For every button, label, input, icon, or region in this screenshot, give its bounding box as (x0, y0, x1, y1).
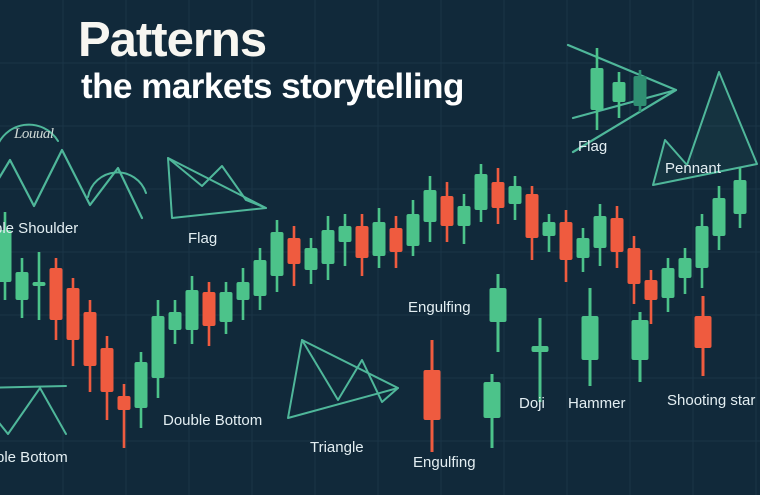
candle-body (582, 316, 599, 360)
candle-body (591, 68, 604, 110)
candle-body (373, 222, 386, 256)
candle-body (458, 206, 471, 226)
candlestick-chart-canvas (0, 0, 760, 495)
candle-body (613, 82, 626, 102)
signature-script: Louual (14, 126, 54, 143)
candle-body (441, 196, 454, 226)
candle-body (594, 216, 607, 248)
candle-body (475, 174, 488, 210)
candle-body (526, 194, 539, 238)
candle-body (577, 238, 590, 258)
candle-body (33, 282, 46, 286)
candle-body (695, 316, 712, 348)
candle-body (186, 290, 199, 330)
candle-body (322, 230, 335, 264)
candle-wick (123, 384, 126, 448)
candle-body (645, 280, 658, 300)
candle-body (16, 272, 29, 300)
candle-body (203, 292, 216, 326)
candle-body (152, 316, 165, 378)
candle-body (169, 312, 182, 330)
candle-body (67, 288, 80, 340)
candle-body (50, 268, 63, 320)
candle-body (634, 76, 647, 106)
candle-body (713, 198, 726, 236)
candle-body (390, 228, 403, 252)
candle-body (532, 346, 549, 352)
candle-body (254, 260, 267, 296)
candle-body (679, 258, 692, 278)
candle-body (734, 180, 747, 214)
candle-body (339, 226, 352, 242)
candle-wick (539, 318, 542, 402)
candle-body (101, 348, 114, 392)
candle-body (424, 190, 437, 222)
candle-body (632, 320, 649, 360)
candle-body (490, 288, 507, 322)
candle-body (407, 214, 420, 246)
candle-body (0, 230, 12, 282)
candle-body (135, 362, 148, 408)
candle-body (424, 370, 441, 420)
chart-poster: Patterns the markets storytelling Louual… (0, 0, 760, 495)
candle-body (628, 248, 641, 284)
candle-body (484, 382, 501, 418)
candle-body (288, 238, 301, 264)
candle-body (560, 222, 573, 260)
candle-body (696, 226, 709, 268)
candle-body (356, 226, 369, 258)
candle-body (509, 186, 522, 204)
candle (634, 70, 647, 112)
candle-body (84, 312, 97, 366)
candle-body (271, 232, 284, 276)
candle-body (662, 268, 675, 298)
candle-body (305, 248, 318, 270)
candle-body (543, 222, 556, 236)
candle-body (220, 292, 233, 322)
candle-body (611, 218, 624, 252)
candle-body (492, 182, 505, 208)
candle-body (118, 396, 131, 410)
candle-body (237, 282, 250, 300)
